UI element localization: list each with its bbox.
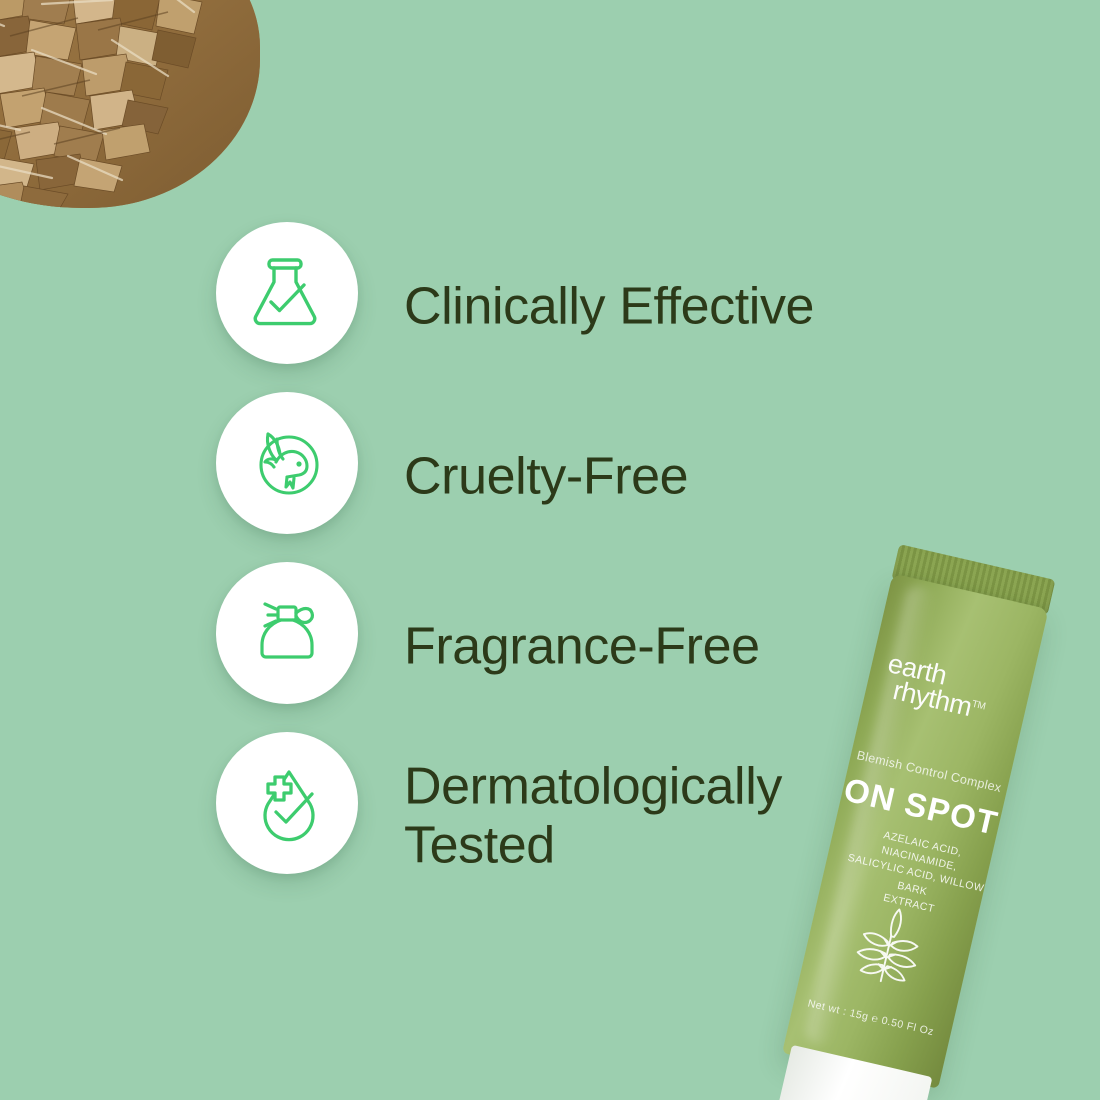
- feature-label: Cruelty-Free: [404, 447, 688, 506]
- feature-icon-badge: [216, 222, 358, 364]
- willow-bark-decoration: [0, 0, 260, 208]
- feature-label: Clinically Effective: [404, 277, 814, 336]
- droplet-cross-check-icon: [244, 760, 330, 846]
- promo-graphic: Clinically Effective Cruelty-Free: [0, 0, 1100, 1100]
- feature-row: Fragrance-Free: [216, 562, 916, 732]
- feature-row: Clinically Effective: [216, 222, 916, 392]
- feature-icon-badge: [216, 392, 358, 534]
- feature-label: Fragrance-Free: [404, 617, 760, 676]
- willow-bark-chips-pile-icon: [0, 0, 260, 208]
- perfume-spray-icon: [244, 590, 330, 676]
- feature-icon-badge: [216, 562, 358, 704]
- feature-icon-badge: [216, 732, 358, 874]
- flask-check-icon: [244, 250, 330, 336]
- bark-pile-mask: [0, 0, 260, 208]
- feature-label: Dermatologically Tested: [404, 758, 782, 877]
- rabbit-circle-icon: [244, 420, 330, 506]
- feature-row: Cruelty-Free: [216, 392, 916, 562]
- trademark-symbol: TM: [971, 699, 987, 713]
